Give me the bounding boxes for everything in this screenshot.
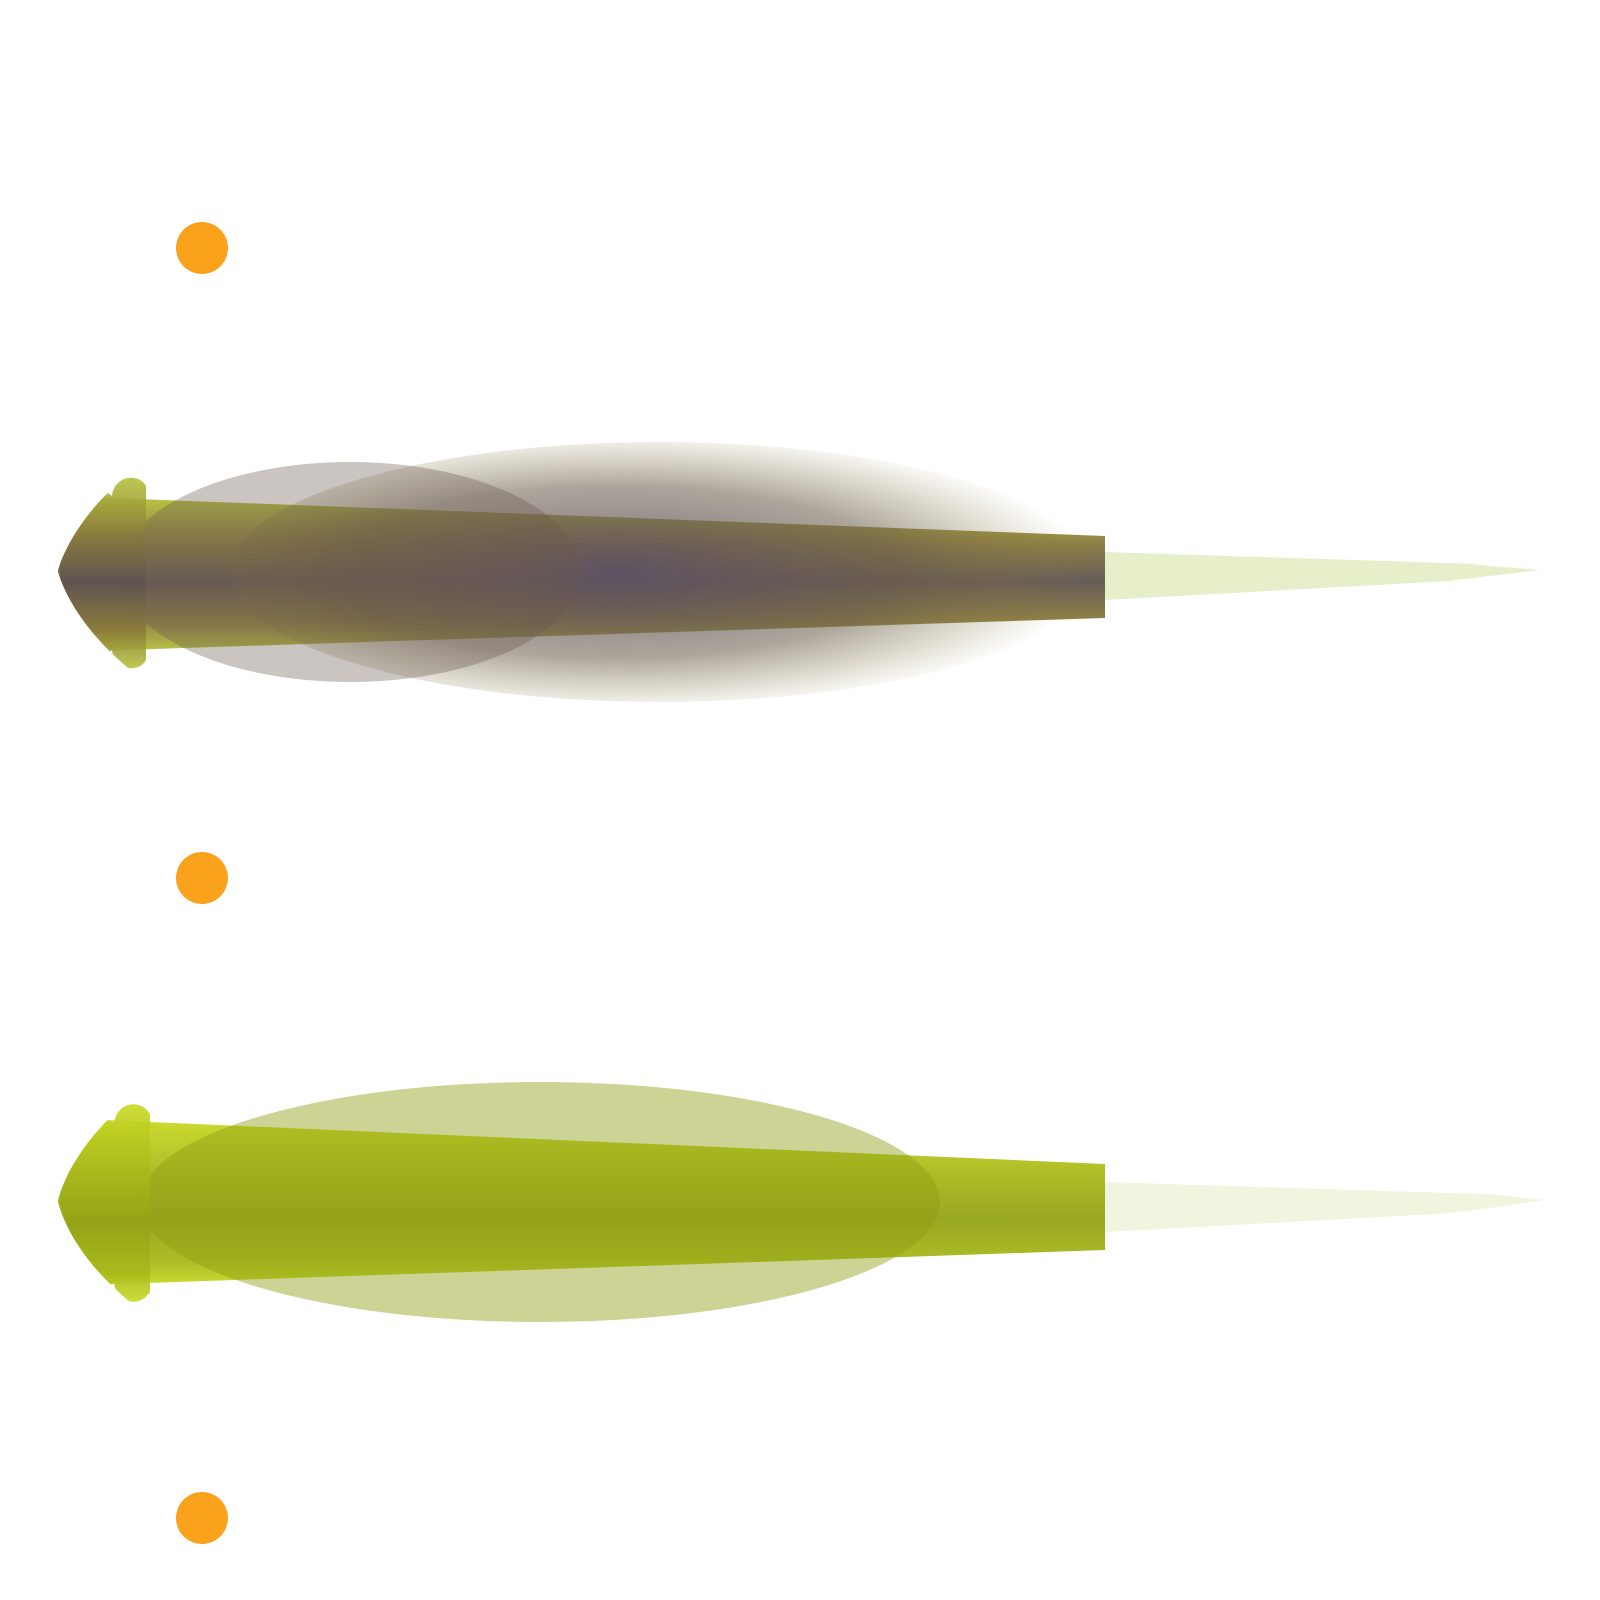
feature-item-3	[176, 1492, 254, 1544]
orange-dot-icon	[176, 1492, 228, 1544]
feature-item-2	[176, 852, 254, 904]
feature-item-1	[176, 222, 254, 274]
feature-infographic	[0, 0, 1600, 1600]
product-image-lure-bottom	[20, 930, 1580, 1470]
orange-dot-icon	[176, 222, 228, 274]
orange-dot-icon	[176, 852, 228, 904]
product-image-lure-top	[20, 300, 1580, 840]
